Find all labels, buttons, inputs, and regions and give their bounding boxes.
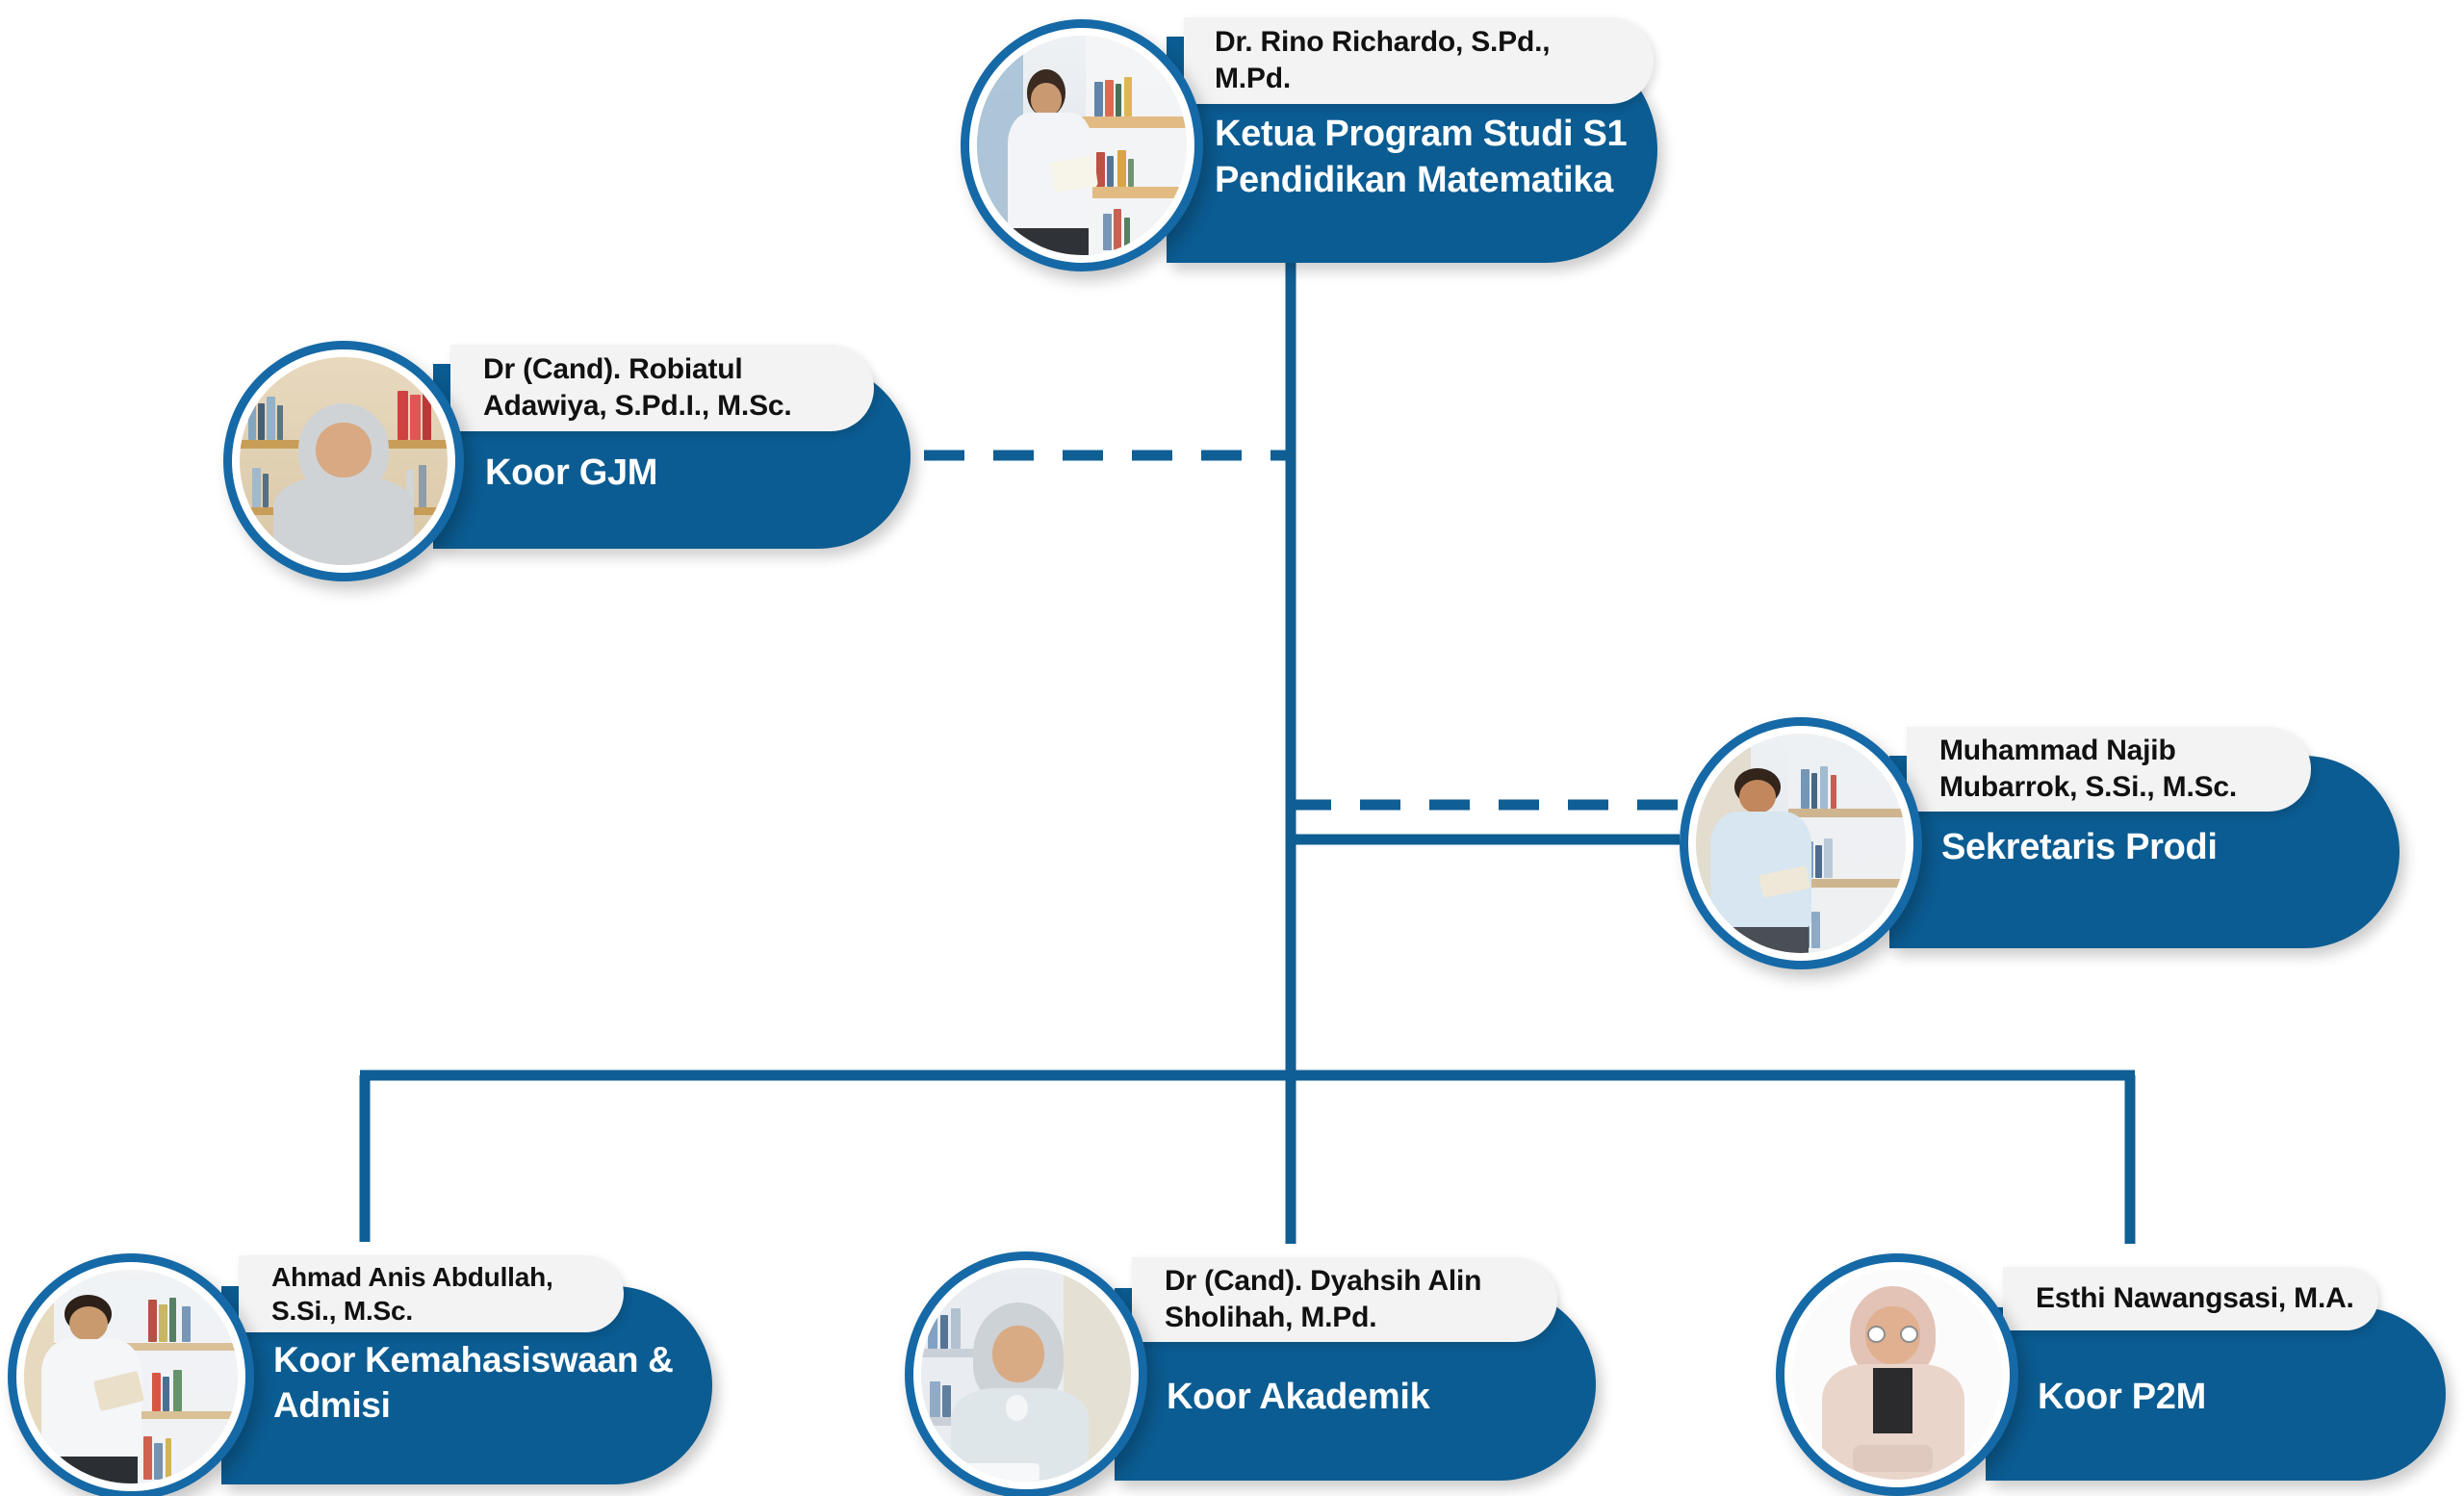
person-figure bbox=[1002, 62, 1098, 255]
p2m-name-chip: Esthi Nawangsasi, M.A. bbox=[2003, 1267, 2378, 1330]
org-chart: Dr. Rino Richardo, S.Pd., M.Pd. Ketua Pr… bbox=[0, 0, 2464, 1496]
gjm-role: Koor GJM bbox=[485, 451, 889, 497]
sekretaris-role-line-1: Sekretaris bbox=[1941, 827, 2116, 867]
kemahasiswaan-name-line-2: S.Si., M.Sc. bbox=[271, 1294, 553, 1328]
kemahasiswaan-role-line-3: Admisi bbox=[273, 1385, 391, 1425]
kemahasiswaan-role-line-2: Kemahasiswaan & bbox=[365, 1340, 673, 1380]
node-koor-gjm[interactable]: Dr (Cand). Robiatul Adawiya, S.Pd.I., M.… bbox=[223, 327, 926, 578]
kemahasiswaan-name-line-1: Ahmad Anis Abdullah, bbox=[271, 1260, 553, 1294]
person-figure bbox=[1822, 1286, 1964, 1480]
person-figure bbox=[951, 1303, 1090, 1482]
akademik-name-chip: Dr (Cand). Dyahsih Alin Sholihah, M.Pd. bbox=[1132, 1257, 1557, 1342]
gjm-avatar[interactable] bbox=[223, 341, 464, 581]
gjm-name-line-1: Dr (Cand). Robiatul bbox=[483, 351, 792, 388]
kemahasiswaan-name-chip: Ahmad Anis Abdullah, S.Si., M.Sc. bbox=[239, 1255, 624, 1332]
akademik-avatar[interactable] bbox=[905, 1251, 1147, 1496]
akademik-role-line-1: Koor Akademik bbox=[1167, 1377, 1429, 1417]
p2m-avatar[interactable] bbox=[1776, 1253, 2018, 1496]
ketua-role-line-3: Matematika bbox=[1417, 160, 1613, 200]
sekretaris-name-chip: Muhammad Najib Mubarrok, S.Si., M.Sc. bbox=[1907, 727, 2311, 812]
sekretaris-name-line-2: Mubarrok, S.Si., M.Sc. bbox=[1939, 769, 2237, 806]
p2m-role: Koor P2M bbox=[2038, 1375, 2423, 1421]
sekretaris-role-line-2: Prodi bbox=[2125, 827, 2218, 867]
node-ketua[interactable]: Dr. Rino Richardo, S.Pd., M.Pd. Ketua Pr… bbox=[953, 8, 1665, 282]
node-sekretaris-prodi[interactable]: Muhammad Najib Mubarrok, S.Si., M.Sc. Se… bbox=[1680, 708, 2392, 977]
gjm-name-line-2: Adawiya, S.Pd.I., M.Sc. bbox=[483, 388, 792, 425]
akademik-role: Koor Akademik bbox=[1167, 1375, 1580, 1421]
kemahasiswaan-role: Koor Kemahasiswaan & Admisi bbox=[273, 1338, 706, 1428]
ketua-avatar[interactable] bbox=[961, 19, 1203, 271]
sekretaris-name-line-1: Muhammad Najib bbox=[1939, 733, 2237, 769]
node-koor-akademik[interactable]: Dr (Cand). Dyahsih Alin Sholihah, M.Pd. … bbox=[905, 1244, 1617, 1496]
node-koor-p2m[interactable]: Esthi Nawangsasi, M.A. Koor P2M bbox=[1776, 1244, 2464, 1496]
kemahasiswaan-avatar[interactable] bbox=[8, 1253, 254, 1496]
node-koor-kemahasiswaan-admisi[interactable]: Ahmad Anis Abdullah, S.Si., M.Sc. Koor K… bbox=[8, 1242, 720, 1496]
ketua-role-line-1: Ketua Program Studi bbox=[1215, 114, 1573, 154]
person-figure bbox=[273, 403, 415, 565]
ketua-name-line-2: M.Pd. bbox=[1215, 61, 1550, 97]
sekretaris-role: Sekretaris Prodi bbox=[1941, 825, 2355, 871]
ketua-name-chip: Dr. Rino Richardo, S.Pd., M.Pd. bbox=[1184, 17, 1654, 104]
p2m-role-line-1: Koor P2M bbox=[2038, 1377, 2206, 1417]
sekretaris-avatar[interactable] bbox=[1680, 717, 1922, 969]
person-figure bbox=[1708, 764, 1817, 953]
gjm-name-chip: Dr (Cand). Robiatul Adawiya, S.Pd.I., M.… bbox=[450, 345, 874, 431]
kemahasiswaan-role-line-1: Koor bbox=[273, 1340, 355, 1380]
p2m-name-line-1: Esthi Nawangsasi, M.A. bbox=[2036, 1280, 2354, 1317]
gjm-role-line-1: Koor GJM bbox=[485, 452, 657, 493]
akademik-name-line-2: Sholihah, M.Pd. bbox=[1165, 1300, 1481, 1336]
person-figure bbox=[41, 1291, 148, 1483]
ketua-role: Ketua Program Studi S1 Pendidikan Matema… bbox=[1215, 112, 1648, 204]
ketua-name-line-1: Dr. Rino Richardo, S.Pd., bbox=[1215, 24, 1550, 61]
akademik-name-line-1: Dr (Cand). Dyahsih Alin bbox=[1165, 1263, 1481, 1300]
